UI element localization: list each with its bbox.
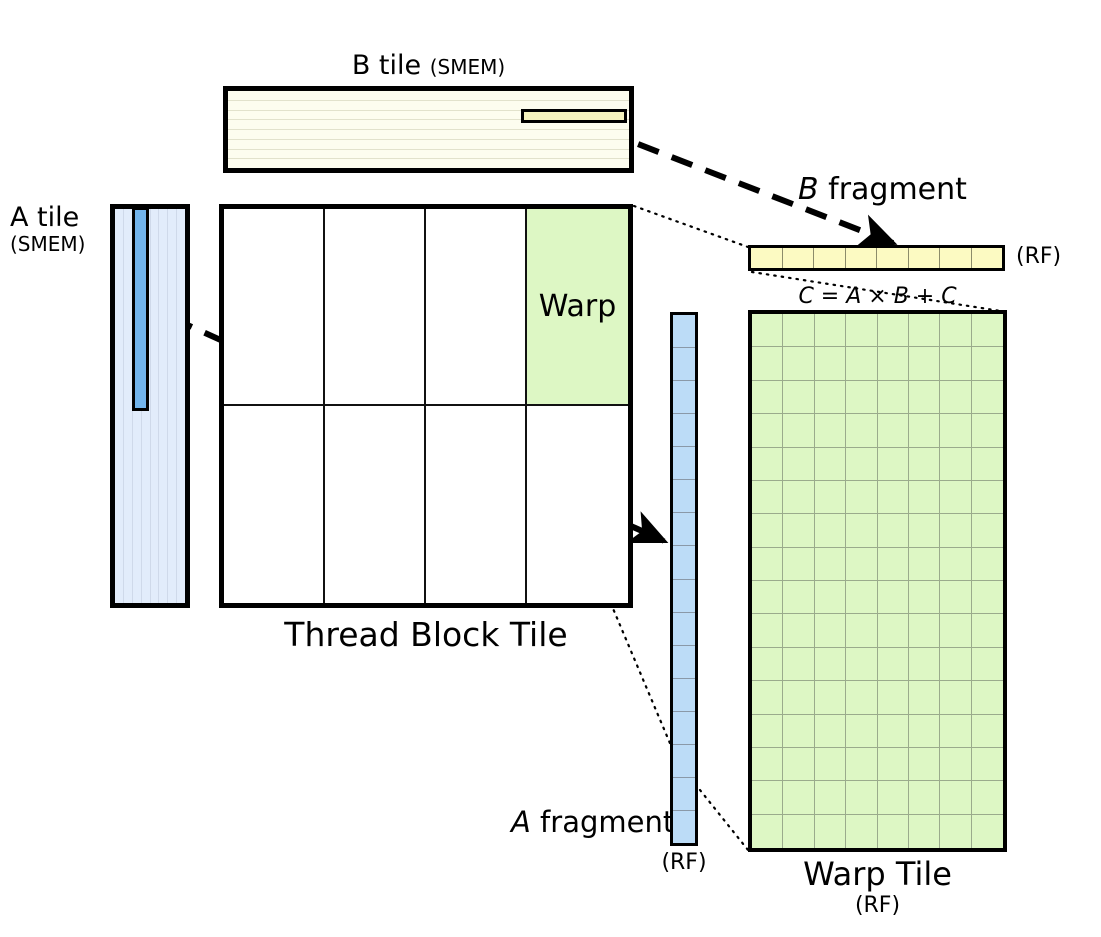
diagram-canvas: B tile (SMEM) A tile (SMEM) Warp Thread … bbox=[0, 0, 1101, 937]
warp-tile-cell bbox=[752, 414, 783, 447]
warp-tile-cell bbox=[846, 781, 877, 814]
a-fragment-cell bbox=[673, 580, 695, 613]
warp-tile-cell bbox=[846, 347, 877, 380]
a-fragment-cell bbox=[673, 712, 695, 745]
a-fragment-cell bbox=[673, 513, 695, 546]
a-fragment-cell bbox=[673, 480, 695, 513]
warp-tile-cell bbox=[940, 448, 971, 481]
warp-tile-cell bbox=[972, 581, 1003, 614]
b-tile-stripe bbox=[228, 159, 629, 168]
warp-tile-cell bbox=[783, 414, 814, 447]
b-fragment-cell bbox=[940, 248, 972, 268]
a-fragment-cell bbox=[673, 546, 695, 579]
warp-tile-cell bbox=[940, 815, 971, 848]
warp-tile-cell bbox=[815, 614, 846, 647]
warp-tile-cell bbox=[878, 681, 909, 714]
warp-tile-cell bbox=[846, 381, 877, 414]
warp-tile-cell bbox=[878, 581, 909, 614]
warp-tile-cell bbox=[909, 514, 940, 547]
thread-block-tile-grid: Warp bbox=[224, 209, 628, 603]
b-fragment-cell bbox=[846, 248, 878, 268]
a-tile-box bbox=[110, 204, 190, 608]
warp-tile-cell bbox=[909, 381, 940, 414]
warp-tile-cell bbox=[783, 314, 814, 347]
warp-tile-cell bbox=[783, 581, 814, 614]
warp-tile-cell bbox=[909, 414, 940, 447]
warp-tile-cell bbox=[846, 748, 877, 781]
warp-tile-caption: Warp Tile bbox=[748, 858, 1007, 890]
warp-tile-cell bbox=[909, 648, 940, 681]
a-fragment-cell bbox=[673, 811, 695, 843]
warp-tile-cell bbox=[878, 648, 909, 681]
warp-tile-cell bbox=[815, 748, 846, 781]
warp-tile-cell bbox=[783, 715, 814, 748]
warp-tile-cell bbox=[752, 381, 783, 414]
warp-tile-cell bbox=[815, 548, 846, 581]
warp-tile-cell bbox=[909, 815, 940, 848]
b-tile-memory: (SMEM) bbox=[430, 55, 505, 79]
warp-tile-cell bbox=[752, 648, 783, 681]
warp-tile-cell bbox=[878, 715, 909, 748]
thread-block-tile-box: Warp bbox=[219, 204, 633, 608]
warp-tile-cell bbox=[972, 381, 1003, 414]
warp-tile-cell bbox=[878, 347, 909, 380]
thread-block-tile-cell bbox=[325, 406, 426, 603]
warp-tile-cell bbox=[878, 314, 909, 347]
warp-tile-cell bbox=[878, 514, 909, 547]
warp-tile-cell bbox=[815, 514, 846, 547]
warp-tile-cell bbox=[909, 681, 940, 714]
warp-tile-cell bbox=[846, 815, 877, 848]
thread-block-tile-warp-cell: Warp bbox=[527, 209, 628, 406]
a-fragment-cell bbox=[673, 315, 695, 348]
warp-tile-cell bbox=[909, 581, 940, 614]
a-tile-label: A tile bbox=[10, 202, 79, 233]
warp-tile-cell bbox=[815, 314, 846, 347]
a-fragment-cell bbox=[673, 778, 695, 811]
warp-tile-cell bbox=[972, 548, 1003, 581]
warp-tile-cell bbox=[846, 581, 877, 614]
warp-tile-cell bbox=[815, 381, 846, 414]
warp-tile-cell bbox=[972, 314, 1003, 347]
warp-tile-cell bbox=[972, 448, 1003, 481]
a-fragment-label-italic: A bbox=[511, 805, 531, 839]
warp-tile-cell bbox=[940, 347, 971, 380]
warp-tile-cell bbox=[752, 481, 783, 514]
warp-tile-cell bbox=[940, 414, 971, 447]
b-fragment-cell bbox=[972, 248, 1003, 268]
warp-tile-cell bbox=[878, 748, 909, 781]
warp-tile-cell bbox=[846, 648, 877, 681]
warp-tile-cell bbox=[940, 514, 971, 547]
b-fragment-cell bbox=[814, 248, 846, 268]
warp-tile-cell bbox=[972, 681, 1003, 714]
warp-tile-cell bbox=[783, 815, 814, 848]
warp-tile-cell bbox=[846, 614, 877, 647]
warp-tile-cell bbox=[783, 347, 814, 380]
warp-tile-cell bbox=[940, 614, 971, 647]
warp-tile-cell bbox=[783, 481, 814, 514]
a-fragment-label: A fragment bbox=[511, 808, 674, 837]
b-fragment-cell bbox=[877, 248, 909, 268]
b-fragment-cell bbox=[783, 248, 815, 268]
thread-block-tile-cell bbox=[426, 406, 527, 603]
warp-tile-cell bbox=[783, 381, 814, 414]
warp-tile-cell bbox=[940, 581, 971, 614]
warp-tile-cell bbox=[846, 314, 877, 347]
warp-tile-cell bbox=[846, 514, 877, 547]
warp-tile-cell bbox=[783, 614, 814, 647]
warp-tile-cell bbox=[972, 514, 1003, 547]
thread-block-tile-caption: Thread Block Tile bbox=[219, 618, 633, 651]
a-tile-stripe bbox=[151, 209, 160, 603]
warp-tile-cell bbox=[940, 648, 971, 681]
warp-tile-cell bbox=[815, 781, 846, 814]
a-fragment-cell bbox=[673, 613, 695, 646]
warp-tile-cell bbox=[972, 748, 1003, 781]
warp-tile-cell bbox=[752, 548, 783, 581]
warp-tile-cell bbox=[878, 448, 909, 481]
warp-tile-cell bbox=[909, 314, 940, 347]
a-fragment-cell bbox=[673, 447, 695, 480]
a-tile-stripe bbox=[115, 209, 124, 603]
warp-tile-cell bbox=[909, 715, 940, 748]
warp-tile-cell bbox=[815, 648, 846, 681]
a-fragment-cells bbox=[673, 315, 695, 843]
b-fragment-cells bbox=[751, 248, 1002, 268]
b-tile-stripe bbox=[228, 150, 629, 160]
warp-tile-cell bbox=[909, 748, 940, 781]
b-tile-box bbox=[223, 86, 634, 173]
warp-tile-cell bbox=[815, 681, 846, 714]
b-fragment-memory: (RF) bbox=[1016, 246, 1061, 268]
b-tile-highlighted-strip bbox=[521, 109, 627, 123]
warp-tile-cell bbox=[940, 748, 971, 781]
warp-label: Warp bbox=[527, 209, 628, 404]
warp-tile-cell bbox=[815, 347, 846, 380]
warp-tile-cell bbox=[815, 448, 846, 481]
warp-tile-cell bbox=[940, 681, 971, 714]
warp-tile-cell bbox=[878, 614, 909, 647]
warp-tile-memory: (RF) bbox=[748, 895, 1007, 917]
warp-tile-cell bbox=[940, 715, 971, 748]
thread-block-tile-cell bbox=[224, 209, 325, 406]
warp-tile-cell bbox=[878, 381, 909, 414]
dotted-warp-to-b-fragment bbox=[634, 206, 748, 247]
warp-tile-cell bbox=[815, 715, 846, 748]
a-tile-stripe bbox=[177, 209, 185, 603]
warp-tile-cell bbox=[909, 614, 940, 647]
a-fragment-box bbox=[670, 312, 698, 846]
warp-tile-cell bbox=[752, 815, 783, 848]
warp-tile-cell bbox=[940, 781, 971, 814]
a-tile-caption: A tile (SMEM) bbox=[10, 202, 108, 256]
a-fragment-label-rest: fragment bbox=[531, 805, 674, 839]
warp-tile-cell bbox=[909, 481, 940, 514]
warp-tile-cell bbox=[815, 481, 846, 514]
warp-tile-cell bbox=[752, 614, 783, 647]
a-fragment-cell bbox=[673, 348, 695, 381]
warp-tile-cell bbox=[940, 381, 971, 414]
warp-tile-cell bbox=[752, 448, 783, 481]
warp-tile-cell bbox=[909, 347, 940, 380]
b-tile-stripe bbox=[228, 140, 629, 150]
a-fragment-cell bbox=[673, 414, 695, 447]
warp-tile-cell bbox=[752, 715, 783, 748]
warp-tile-cell bbox=[815, 414, 846, 447]
warp-tile-cell bbox=[752, 581, 783, 614]
b-tile-stripe bbox=[228, 130, 629, 140]
a-fragment-cell bbox=[673, 381, 695, 414]
b-fragment-label: B fragment bbox=[798, 175, 967, 205]
dotted-a-fragment-to-warp-tile bbox=[700, 790, 748, 850]
b-fragment-label-italic: B bbox=[798, 172, 819, 207]
b-fragment-box bbox=[748, 245, 1005, 271]
thread-block-tile-cell bbox=[224, 406, 325, 603]
warp-tile-cell bbox=[783, 781, 814, 814]
warp-tile-cell bbox=[972, 481, 1003, 514]
warp-tile-cell bbox=[972, 781, 1003, 814]
b-tile-stripe bbox=[228, 91, 629, 101]
warp-tile-cell bbox=[972, 815, 1003, 848]
warp-tile-grid bbox=[752, 314, 1003, 848]
warp-tile-cell bbox=[909, 781, 940, 814]
warp-tile-cell bbox=[752, 347, 783, 380]
warp-tile-cell bbox=[909, 448, 940, 481]
warp-tile-cell bbox=[752, 748, 783, 781]
warp-tile-cell bbox=[940, 481, 971, 514]
b-tile-stripes bbox=[228, 91, 629, 168]
warp-tile-cell bbox=[909, 548, 940, 581]
warp-tile-cell bbox=[878, 548, 909, 581]
a-tile-stripe bbox=[168, 209, 177, 603]
warp-tile-cell bbox=[783, 448, 814, 481]
warp-tile-cell bbox=[846, 448, 877, 481]
b-fragment-label-rest: fragment bbox=[819, 172, 967, 207]
b-tile-label: B tile bbox=[352, 50, 421, 81]
warp-tile-cell bbox=[878, 481, 909, 514]
warp-tile-cell bbox=[752, 514, 783, 547]
a-fragment-cell bbox=[673, 646, 695, 679]
warp-tile-cell bbox=[783, 748, 814, 781]
a-tile-stripe bbox=[159, 209, 168, 603]
thread-block-tile-cell bbox=[325, 209, 426, 406]
warp-tile-cell bbox=[783, 514, 814, 547]
b-fragment-cell bbox=[751, 248, 783, 268]
warp-tile-cell bbox=[783, 681, 814, 714]
warp-tile-cell bbox=[940, 548, 971, 581]
thread-block-tile-cell bbox=[527, 406, 628, 603]
warp-tile-cell bbox=[783, 648, 814, 681]
warp-tile-cell bbox=[783, 548, 814, 581]
warp-tile-cell bbox=[972, 414, 1003, 447]
warp-tile-cell bbox=[846, 681, 877, 714]
b-fragment-cell bbox=[909, 248, 941, 268]
warp-tile-cell bbox=[752, 781, 783, 814]
warp-tile-cell bbox=[878, 815, 909, 848]
warp-tile-cell bbox=[846, 481, 877, 514]
a-tile-highlighted-strip bbox=[132, 207, 149, 411]
warp-tile-cell bbox=[815, 581, 846, 614]
warp-tile-cell bbox=[752, 681, 783, 714]
warp-tile-cell bbox=[878, 781, 909, 814]
a-fragment-memory: (RF) bbox=[658, 852, 710, 874]
warp-tile-cell bbox=[846, 414, 877, 447]
warp-tile-cell bbox=[972, 648, 1003, 681]
warp-tile-cell bbox=[846, 715, 877, 748]
warp-tile-cell bbox=[972, 715, 1003, 748]
thread-block-tile-cell bbox=[426, 209, 527, 406]
warp-tile-equation: C = A × B + C bbox=[748, 286, 1007, 308]
warp-tile-cell bbox=[846, 548, 877, 581]
a-fragment-cell bbox=[673, 679, 695, 712]
a-tile-memory: (SMEM) bbox=[10, 233, 108, 256]
warp-tile-box bbox=[748, 310, 1007, 852]
warp-tile-cell bbox=[940, 314, 971, 347]
warp-tile-cell bbox=[815, 815, 846, 848]
a-fragment-cell bbox=[673, 745, 695, 778]
warp-tile-cell bbox=[972, 614, 1003, 647]
warp-tile-cell bbox=[878, 414, 909, 447]
a-tile-stripes bbox=[115, 209, 185, 603]
warp-tile-cell bbox=[752, 314, 783, 347]
b-tile-caption: B tile (SMEM) bbox=[223, 52, 634, 79]
warp-tile-cell bbox=[972, 347, 1003, 380]
